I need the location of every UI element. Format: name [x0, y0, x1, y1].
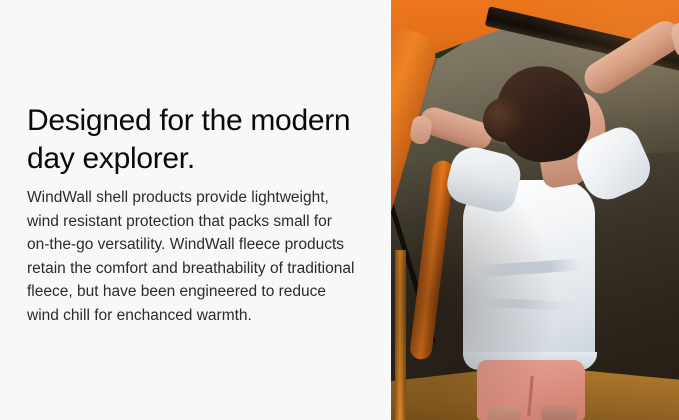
page-title: Designed for the modern day explorer.: [27, 102, 367, 178]
lifestyle-photo: [391, 0, 679, 420]
model-hair-bun: [483, 98, 525, 142]
tent-pole-vertical: [395, 250, 406, 420]
text-panel: Designed for the modern day explorer. Wi…: [0, 0, 391, 420]
body-paragraph: WindWall shell products provide lightwei…: [27, 186, 357, 327]
model-left-leg: [487, 406, 521, 420]
model-right-leg: [541, 406, 577, 420]
marketing-banner: Designed for the modern day explorer. Wi…: [0, 0, 679, 420]
